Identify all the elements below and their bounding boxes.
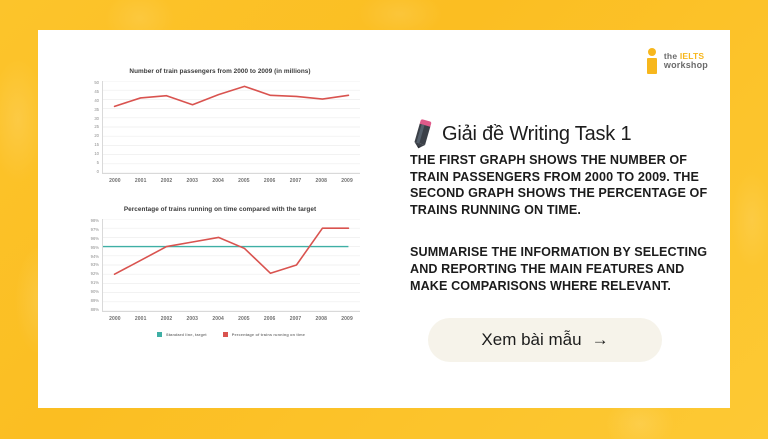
legend-item-target: Standard line, target — [157, 332, 207, 337]
axis-tick: 2001 — [128, 178, 154, 184]
chart-punctuality-plot — [102, 219, 360, 312]
chart-punctuality-legend: Standard line, target Percentage of trai… — [102, 332, 360, 337]
prompt-paragraph-2: Summarise the information by selecting a… — [410, 244, 710, 294]
page-title: Giải đề Writing Task 1 — [442, 123, 631, 146]
axis-tick: 2002 — [154, 316, 180, 322]
chart-passengers-yaxis: 50454035302520151050 — [80, 81, 102, 174]
chart-punctuality-xaxis: 2000200120022003200420052006200720082009 — [102, 312, 360, 322]
axis-tick: 93% — [91, 263, 99, 267]
chart-passengers-xaxis: 2000200120022003200420052006200720082009 — [102, 174, 360, 184]
axis-tick: 50 — [94, 81, 99, 85]
axis-tick: 35 — [94, 108, 99, 112]
axis-tick: 91% — [91, 281, 99, 285]
legend-item-ontime: Percentage of trains running on time — [223, 332, 305, 337]
axis-tick: 2003 — [179, 316, 205, 322]
chart-punctuality-title: Percentage of trains running on time com… — [80, 206, 360, 213]
axis-tick: 98% — [91, 219, 99, 223]
axis-tick: 2003 — [179, 178, 205, 184]
axis-tick: 2005 — [231, 178, 257, 184]
legend-label-ontime: Percentage of trains running on time — [232, 332, 305, 337]
axis-tick: 2002 — [154, 178, 180, 184]
axis-tick: 96% — [91, 237, 99, 241]
brand-logo: the IELTS workshop — [646, 48, 708, 74]
prompt-paragraph-1: The first graph shows the number of trai… — [410, 152, 710, 218]
axis-tick: 40 — [94, 99, 99, 103]
axis-tick: 2006 — [257, 316, 283, 322]
legend-swatch-ontime — [223, 332, 228, 337]
view-sample-label: Xem bài mẫu — [481, 330, 581, 350]
axis-tick: 2008 — [308, 178, 334, 184]
axis-tick: 2004 — [205, 178, 231, 184]
chart-punctuality: Percentage of trains running on time com… — [80, 206, 360, 337]
axis-tick: 5 — [97, 161, 99, 165]
axis-tick: 2000 — [102, 316, 128, 322]
axis-tick: 45 — [94, 90, 99, 94]
axis-tick: 90% — [91, 290, 99, 294]
axis-tick: 30 — [94, 117, 99, 121]
axis-tick: 2008 — [308, 316, 334, 322]
text-column: Giải đề Writing Task 1 The first graph s… — [410, 118, 710, 362]
charts-column: Number of train passengers from 2000 to … — [80, 68, 360, 337]
axis-tick: 95% — [91, 246, 99, 250]
axis-tick: 2005 — [231, 316, 257, 322]
axis-tick: 2000 — [102, 178, 128, 184]
axis-tick: 2004 — [205, 316, 231, 322]
axis-tick: 2001 — [128, 316, 154, 322]
axis-tick: 97% — [91, 228, 99, 232]
arrow-right-icon: → — [592, 330, 609, 350]
logo-i-dot — [648, 48, 656, 56]
headline-row: Giải đề Writing Task 1 — [410, 118, 710, 150]
legend-label-target: Standard line, target — [166, 332, 207, 337]
chart-punctuality-yaxis: 98%97%96%95%94%93%92%91%90%89%88% — [80, 219, 102, 312]
axis-tick: 25 — [94, 125, 99, 129]
axis-tick: 2007 — [283, 178, 309, 184]
axis-tick: 2006 — [257, 178, 283, 184]
axis-tick: 89% — [91, 299, 99, 303]
axis-tick: 2007 — [283, 316, 309, 322]
chart-passengers-title: Number of train passengers from 2000 to … — [80, 68, 360, 75]
chart-passengers: Number of train passengers from 2000 to … — [80, 68, 360, 184]
logo-wordmark: the IELTS workshop — [664, 52, 708, 70]
axis-tick: 2009 — [334, 316, 360, 322]
axis-tick: 2009 — [334, 178, 360, 184]
logo-i-icon — [646, 48, 659, 74]
axis-tick: 20 — [94, 134, 99, 138]
chart-passengers-plot — [102, 81, 360, 174]
view-sample-button[interactable]: Xem bài mẫu → — [428, 318, 662, 362]
axis-tick: 0 — [97, 170, 99, 174]
logo-line-two: workshop — [664, 61, 708, 70]
axis-tick: 88% — [91, 308, 99, 312]
legend-swatch-target — [157, 332, 162, 337]
logo-i-stem — [647, 58, 657, 74]
axis-tick: 15 — [94, 143, 99, 147]
axis-tick: 92% — [91, 272, 99, 276]
axis-tick: 10 — [94, 152, 99, 156]
content-card: the IELTS workshop Number of train passe… — [38, 30, 730, 408]
axis-tick: 94% — [91, 255, 99, 259]
pencil-icon — [410, 118, 436, 150]
